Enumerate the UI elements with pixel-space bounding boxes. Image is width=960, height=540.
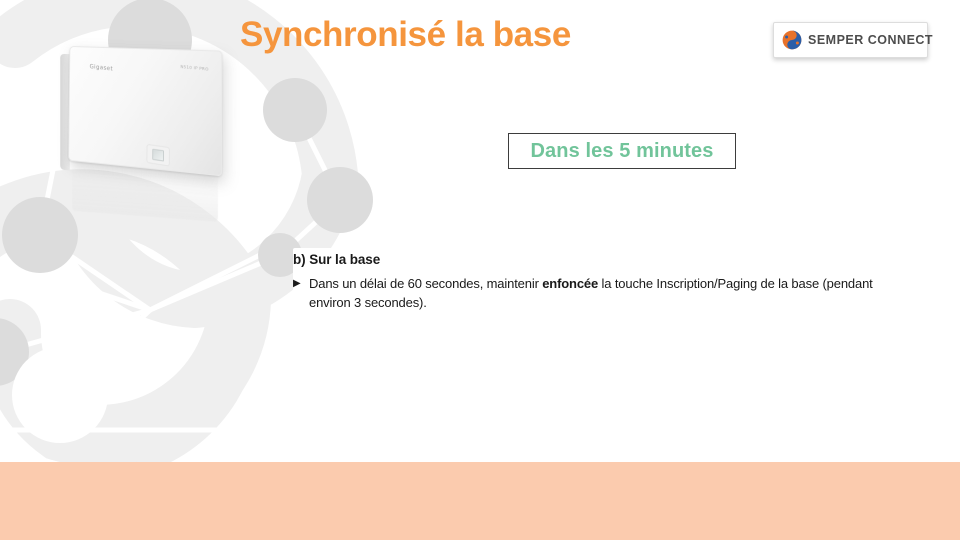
semper-connect-logo: SEMPER CONNECT (773, 22, 928, 58)
instruction-text: Dans un délai de 60 secondes, maintenir … (309, 275, 891, 313)
instruction-text-emphasis: enfoncée (542, 276, 598, 291)
time-limit-callout-text: Dans les 5 minutes (531, 140, 714, 163)
triangle-bullet-icon: ▶ (293, 279, 309, 289)
instruction-text-prefix: Dans un délai de 60 secondes, maintenir (309, 276, 542, 291)
instruction-panel: b) Sur la base ▶ Dans un délai de 60 sec… (293, 248, 903, 319)
semper-connect-logo-text: SEMPER CONNECT (808, 33, 933, 47)
time-limit-callout-box: Dans les 5 minutes (508, 133, 736, 169)
semper-connect-swirl-icon (782, 30, 802, 50)
list-item: ▶ Dans un délai de 60 secondes, mainteni… (293, 275, 903, 313)
device-brand-label: Gigaset (90, 63, 113, 72)
paging-button-icon (147, 145, 169, 166)
instruction-heading: b) Sur la base (293, 252, 903, 267)
page-title: Synchronisé la base (240, 14, 760, 56)
bottom-accent-band (0, 462, 960, 540)
device-front-panel: Gigaset N510 IP PRO (68, 46, 222, 176)
device-model-label: N510 IP PRO (180, 64, 208, 72)
slide-canvas: Gigaset N510 IP PRO Synchronisé la base … (0, 0, 960, 540)
gigaset-base-station-image: Gigaset N510 IP PRO (52, 42, 242, 227)
